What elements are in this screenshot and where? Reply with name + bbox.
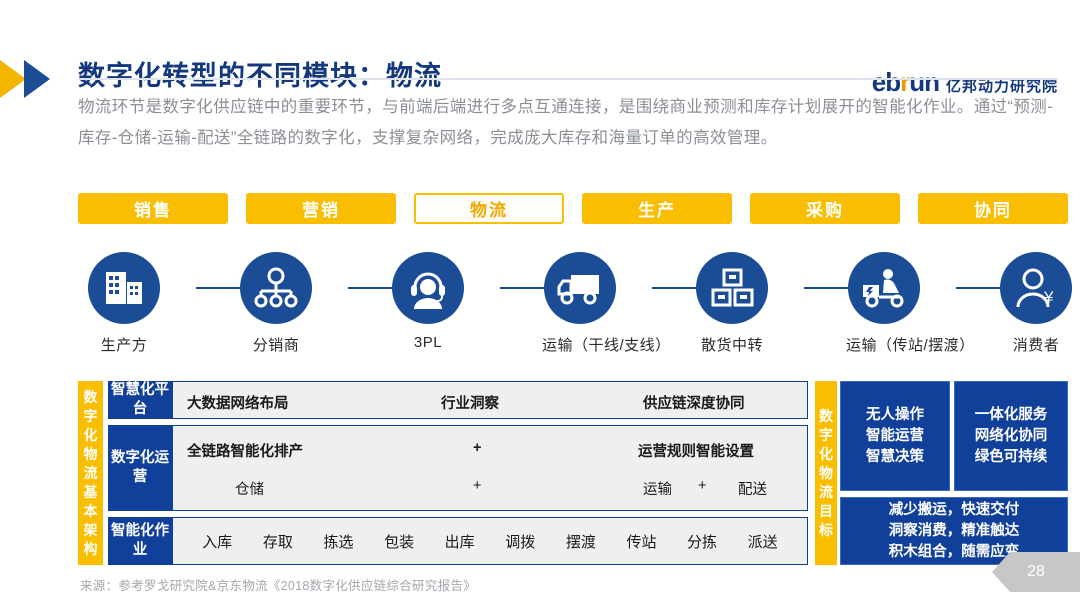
goal-line: 洞察消费，精准触达 <box>889 521 1020 542</box>
cell-plus-3: + <box>698 478 706 494</box>
tab-marketing[interactable]: 营销 <box>246 193 396 224</box>
header-divider <box>78 78 1058 80</box>
parcel-boxes-icon <box>696 252 768 324</box>
architecture-matrix: 数字化物流基本架构 智慧化平台 大数据网络布局 行业洞察 供应链深度协同 数字化… <box>78 381 1068 565</box>
tab-collaboration[interactable]: 协同 <box>918 193 1068 224</box>
svg-text:¥: ¥ <box>1043 288 1054 307</box>
op-item: 出库 <box>445 531 475 552</box>
cell-bigdata-layout: 大数据网络布局 <box>187 392 289 413</box>
slide-header: 数字化转型的不同模块：物流 eb r un 亿邦动力研究院 <box>0 26 1080 78</box>
flow-node-transport-station[interactable]: 运输（传站/摆渡） <box>846 252 922 355</box>
flow-node-label: 运输（传站/摆渡） <box>846 334 922 355</box>
headset-agent-icon <box>392 252 464 324</box>
goal-line: 无人操作 <box>866 405 924 426</box>
tab-production[interactable]: 生产 <box>582 193 732 224</box>
module-tabs: 销售 营销 物流 生产 采购 协同 <box>78 193 1068 224</box>
op-item: 传站 <box>626 531 656 552</box>
cell-warehousing: 仓储 <box>235 478 264 499</box>
page-number: 28 <box>992 552 1080 592</box>
goal-line: 智慧决策 <box>866 447 924 468</box>
flow-node-label: 3PL <box>390 334 466 351</box>
goal-line: 减少搬运，快速交付 <box>889 500 1020 521</box>
goal-box-integrated: 一体化服务 网络化协同 绿色可持续 <box>954 381 1068 491</box>
row-label-operations: 数字化运营 <box>108 425 172 511</box>
row-body-smart-ops: 入库 存取 拣选 包装 出库 调拨 摆渡 传站 分拣 派送 <box>172 517 808 565</box>
op-item: 派送 <box>748 531 778 552</box>
logistics-flow-diagram: 生产方 分销商 <box>78 252 1068 362</box>
distribution-network-icon <box>240 252 312 324</box>
row-label-line: 数字化运营 <box>108 449 172 487</box>
source-note: 来源：参考罗戈研究院&京东物流《2018数字化供应链综合研究报告》 <box>80 575 476 594</box>
operation-items: 入库 存取 拣选 包装 出库 调拨 摆渡 传站 分拣 派送 <box>173 518 807 564</box>
op-item: 摆渡 <box>566 531 596 552</box>
goal-line: 网络化协同 <box>975 426 1048 447</box>
flow-node-label: 散货中转 <box>694 334 770 355</box>
flow-node-distributor[interactable]: 分销商 <box>238 252 314 355</box>
goal-line: 智能运营 <box>866 426 924 447</box>
flow-node-label: 生产方 <box>86 334 162 355</box>
matrix-rows: 智慧化平台 大数据网络布局 行业洞察 供应链深度协同 数字化运营 全链路智能化排… <box>108 381 808 565</box>
op-item: 入库 <box>202 531 232 552</box>
slide-root: 数字化转型的不同模块：物流 eb r un 亿邦动力研究院 物流环节是数字化供应… <box>0 0 1080 608</box>
flow-node-label: 运输（干线/支线） <box>542 334 618 355</box>
matrix-row-operations-exec: 智能化作业 入库 存取 拣选 包装 出库 调拨 摆渡 传站 分拣 派送 <box>108 517 808 565</box>
op-item: 包装 <box>384 531 414 552</box>
row-body-platform: 大数据网络布局 行业洞察 供应链深度协同 <box>172 381 808 419</box>
page-title: 数字化转型的不同模块：物流 <box>78 54 442 93</box>
cell-plus-2: + <box>473 478 481 494</box>
flow-node-3pl[interactable]: 3PL <box>390 252 466 351</box>
flow-node-label: 分销商 <box>238 334 314 355</box>
cell-transport: 运输 <box>643 478 672 499</box>
row-label-line: 智慧化平台 <box>108 381 172 419</box>
goal-line: 积木组合，随需应变 <box>889 542 1020 563</box>
intro-paragraph: 物流环节是数字化供应链中的重要环节，与前端后端进行多点互通连接，是围绕商业预测和… <box>78 92 1063 154</box>
cell-distribution: 配送 <box>738 478 767 499</box>
cell-ops-rules: 运营规则智能设置 <box>638 440 754 461</box>
cell-industry-insight: 行业洞察 <box>441 392 499 413</box>
truck-icon <box>544 252 616 324</box>
cell-full-chain-planning: 全链路智能化排产 <box>187 440 303 461</box>
right-vertical-bar-label: 数字化物流目标 <box>815 381 837 565</box>
tab-logistics[interactable]: 物流 <box>414 193 564 224</box>
flow-node-label: 消费者 <box>998 334 1074 355</box>
row-label-platform: 智慧化平台 <box>108 381 172 419</box>
goals-panel: 无人操作 智能运营 智慧决策 一体化服务 网络化协同 绿色可持续 减少搬运，快速… <box>840 381 1068 565</box>
matrix-row-operations: 数字化运营 全链路智能化排产 + 运营规则智能设置 仓储 + 运输 + 配送 <box>108 425 808 511</box>
consumer-yen-icon: ¥ <box>1000 252 1072 324</box>
flow-node-producer[interactable]: 生产方 <box>86 252 162 355</box>
op-item: 调拨 <box>505 531 535 552</box>
op-item: 拣选 <box>323 531 353 552</box>
flow-node-bulk-transfer[interactable]: 散货中转 <box>694 252 770 355</box>
row-label-line: 智能化作业 <box>108 522 172 560</box>
cell-supplychain-collab: 供应链深度协同 <box>643 392 745 413</box>
tab-sales[interactable]: 销售 <box>78 193 228 224</box>
row-body-operations: 全链路智能化排产 + 运营规则智能设置 仓储 + 运输 + 配送 <box>172 425 808 511</box>
tab-procurement[interactable]: 采购 <box>750 193 900 224</box>
factory-building-icon <box>88 252 160 324</box>
cell-plus-1: + <box>473 440 481 456</box>
double-chevron-icon <box>0 56 70 102</box>
goal-box-unmanned: 无人操作 智能运营 智慧决策 <box>840 381 950 491</box>
goal-line: 一体化服务 <box>975 405 1048 426</box>
flow-node-consumer[interactable]: ¥ 消费者 <box>998 252 1074 355</box>
scooter-delivery-icon <box>848 252 920 324</box>
left-vertical-bar-label: 数字化物流基本架构 <box>78 381 103 565</box>
row-label-smart-ops: 智能化作业 <box>108 517 172 565</box>
goal-line: 绿色可持续 <box>975 447 1048 468</box>
op-item: 分拣 <box>687 531 717 552</box>
op-item: 存取 <box>263 531 293 552</box>
matrix-row-platform: 智慧化平台 大数据网络布局 行业洞察 供应链深度协同 <box>108 381 808 419</box>
flow-node-transport-trunk[interactable]: 运输（干线/支线） <box>542 252 618 355</box>
